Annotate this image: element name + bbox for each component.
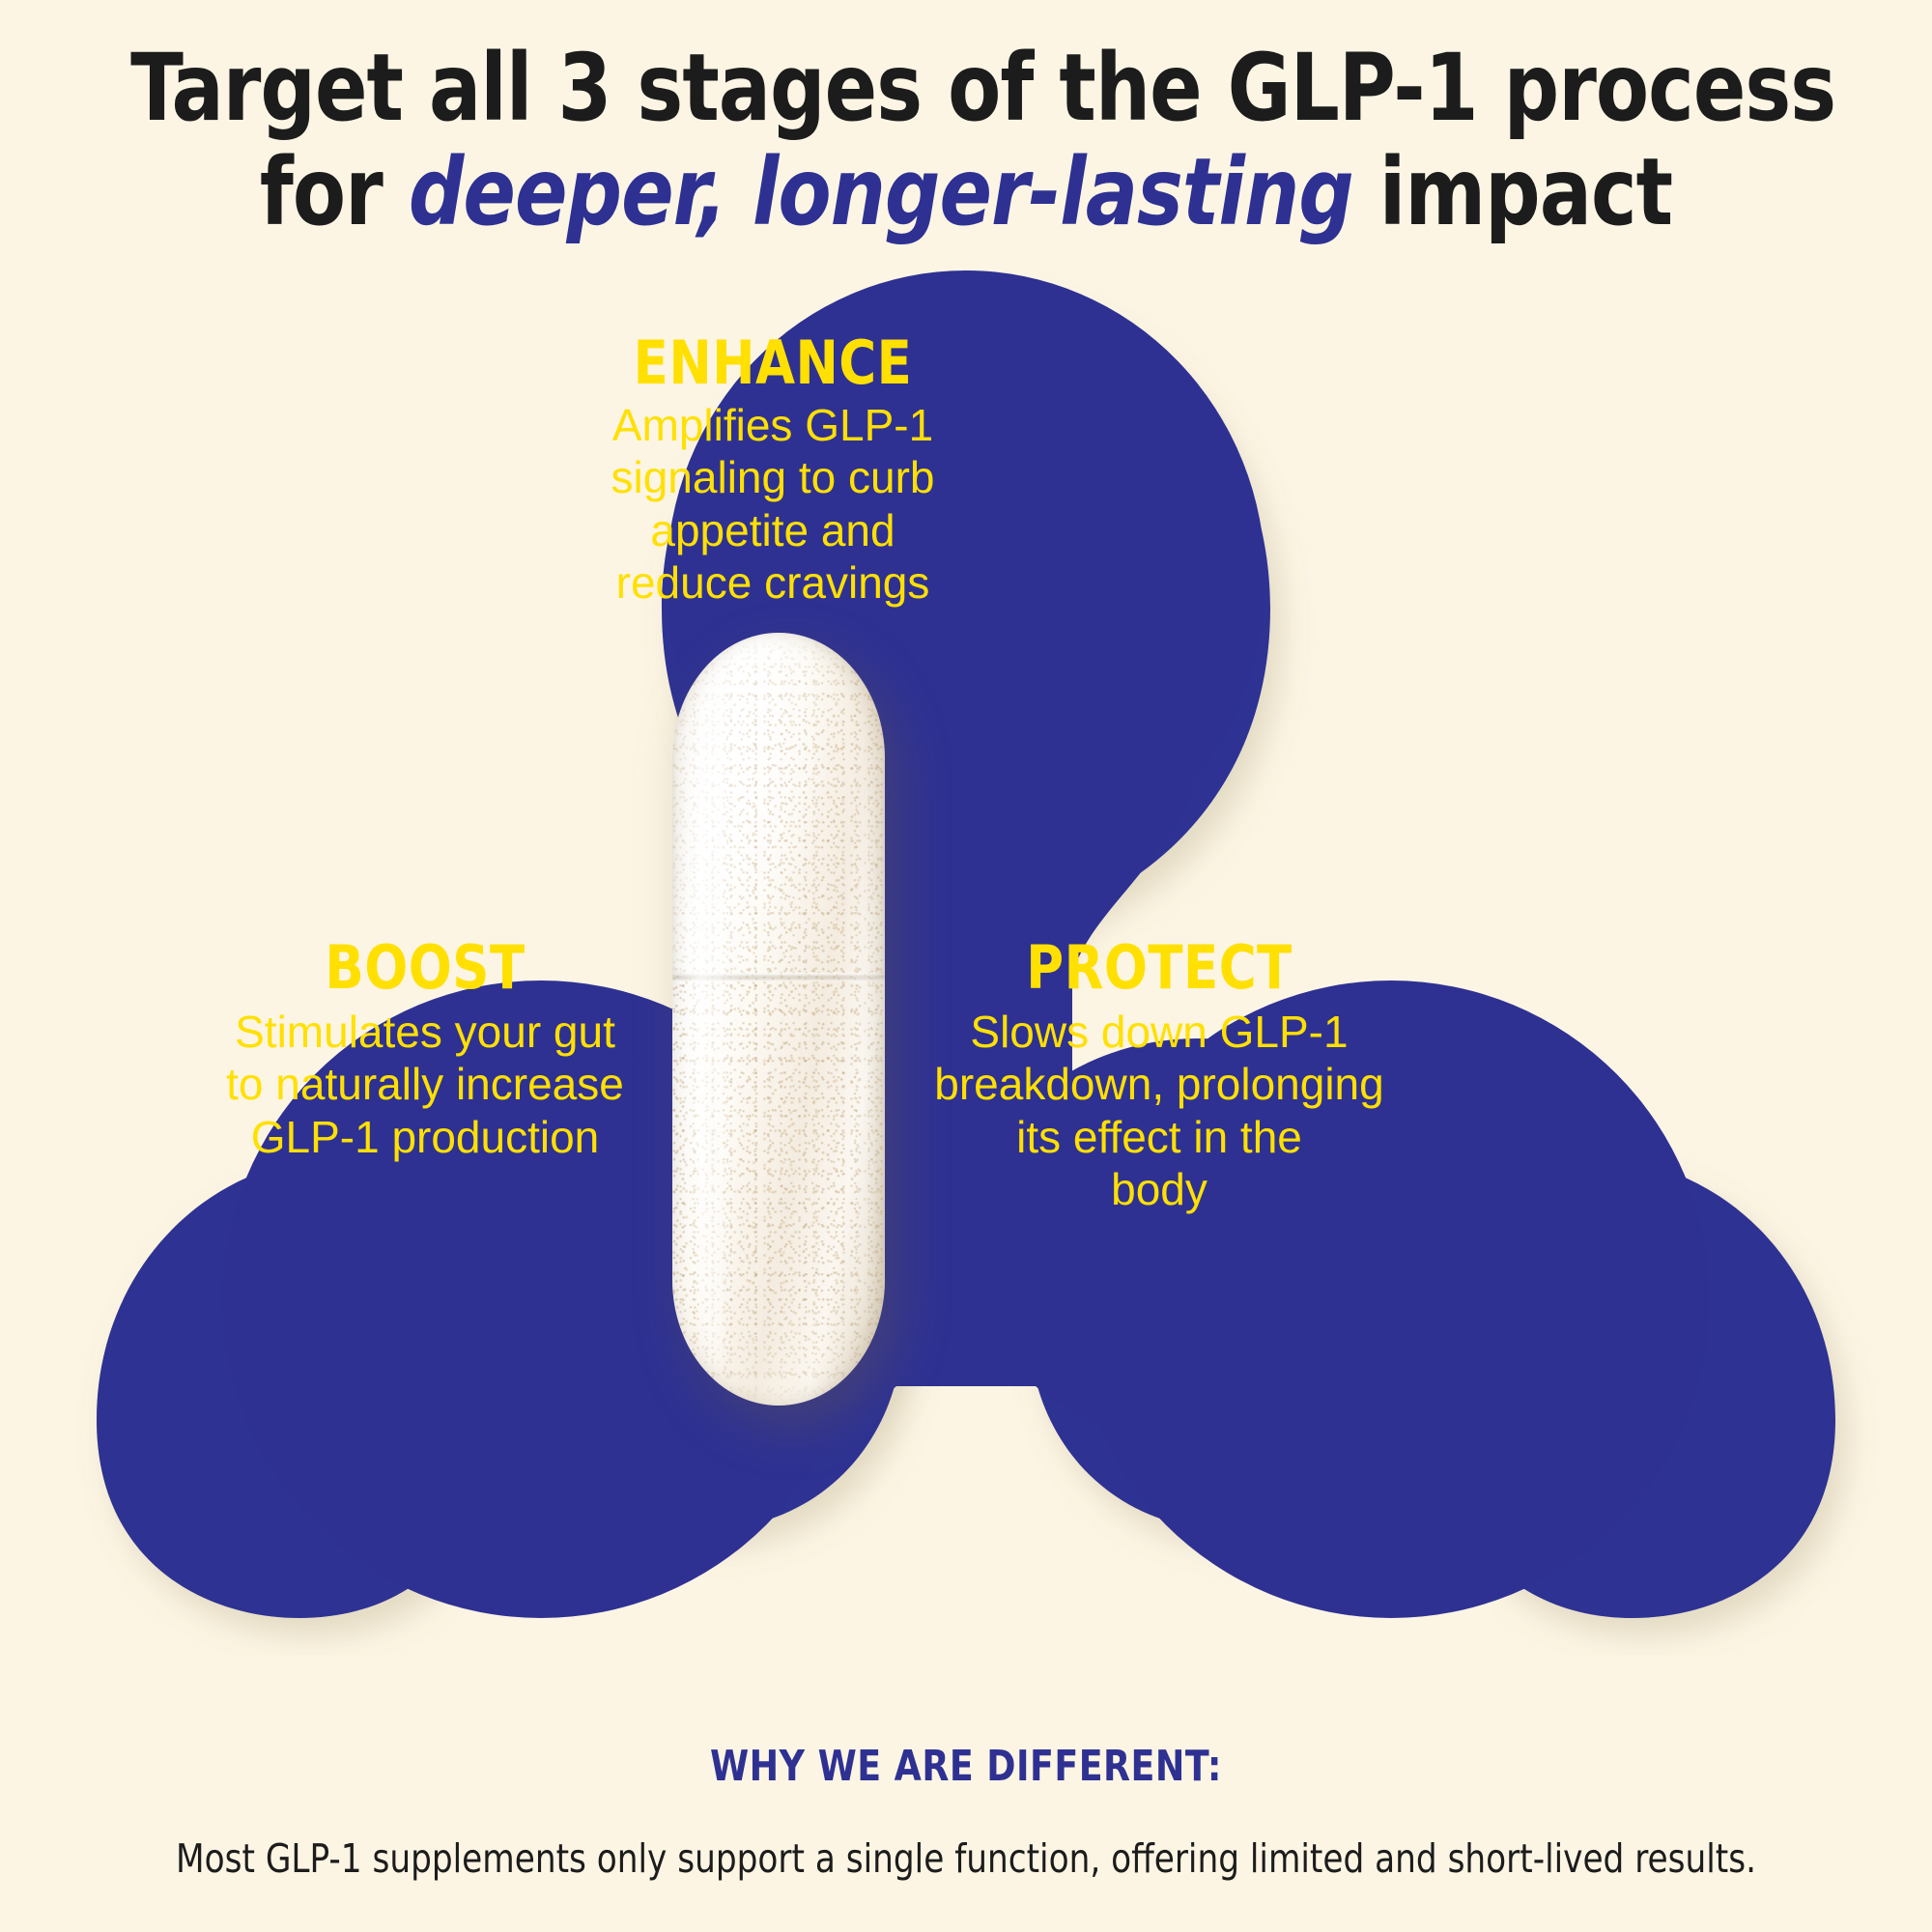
three-stage-diagram: ENHANCE Amplifies GLP-1 signaling to cur… xyxy=(0,246,1932,1657)
headline-suffix: impact xyxy=(1353,138,1672,246)
lobe-center-join xyxy=(860,923,1072,1386)
lobe-shapes xyxy=(0,246,1932,1657)
infographic-root: Target all 3 stages of the GLP-1 process… xyxy=(0,0,1932,1932)
headline-prefix: for xyxy=(260,138,409,246)
capsule-image xyxy=(672,633,885,1406)
headline-block: Target all 3 stages of the GLP-1 process… xyxy=(0,37,1932,244)
headline-line-2: for deeper, longer-lasting impact xyxy=(130,141,1802,245)
footer-heading: WHY WE ARE DIFFERENT: xyxy=(130,1742,1802,1791)
footer-subtext: Most GLP-1 supplements only support a si… xyxy=(122,1835,1810,1882)
footer-block: WHY WE ARE DIFFERENT: Most GLP-1 supplem… xyxy=(0,1742,1932,1882)
lobe-solid-group xyxy=(222,270,1710,1618)
capsule-body xyxy=(672,633,885,1406)
headline-emphasis: deeper, longer-lasting xyxy=(409,138,1353,246)
headline-line-1: Target all 3 stages of the GLP-1 process xyxy=(130,37,1802,141)
capsule-edge-shading xyxy=(672,633,885,1406)
